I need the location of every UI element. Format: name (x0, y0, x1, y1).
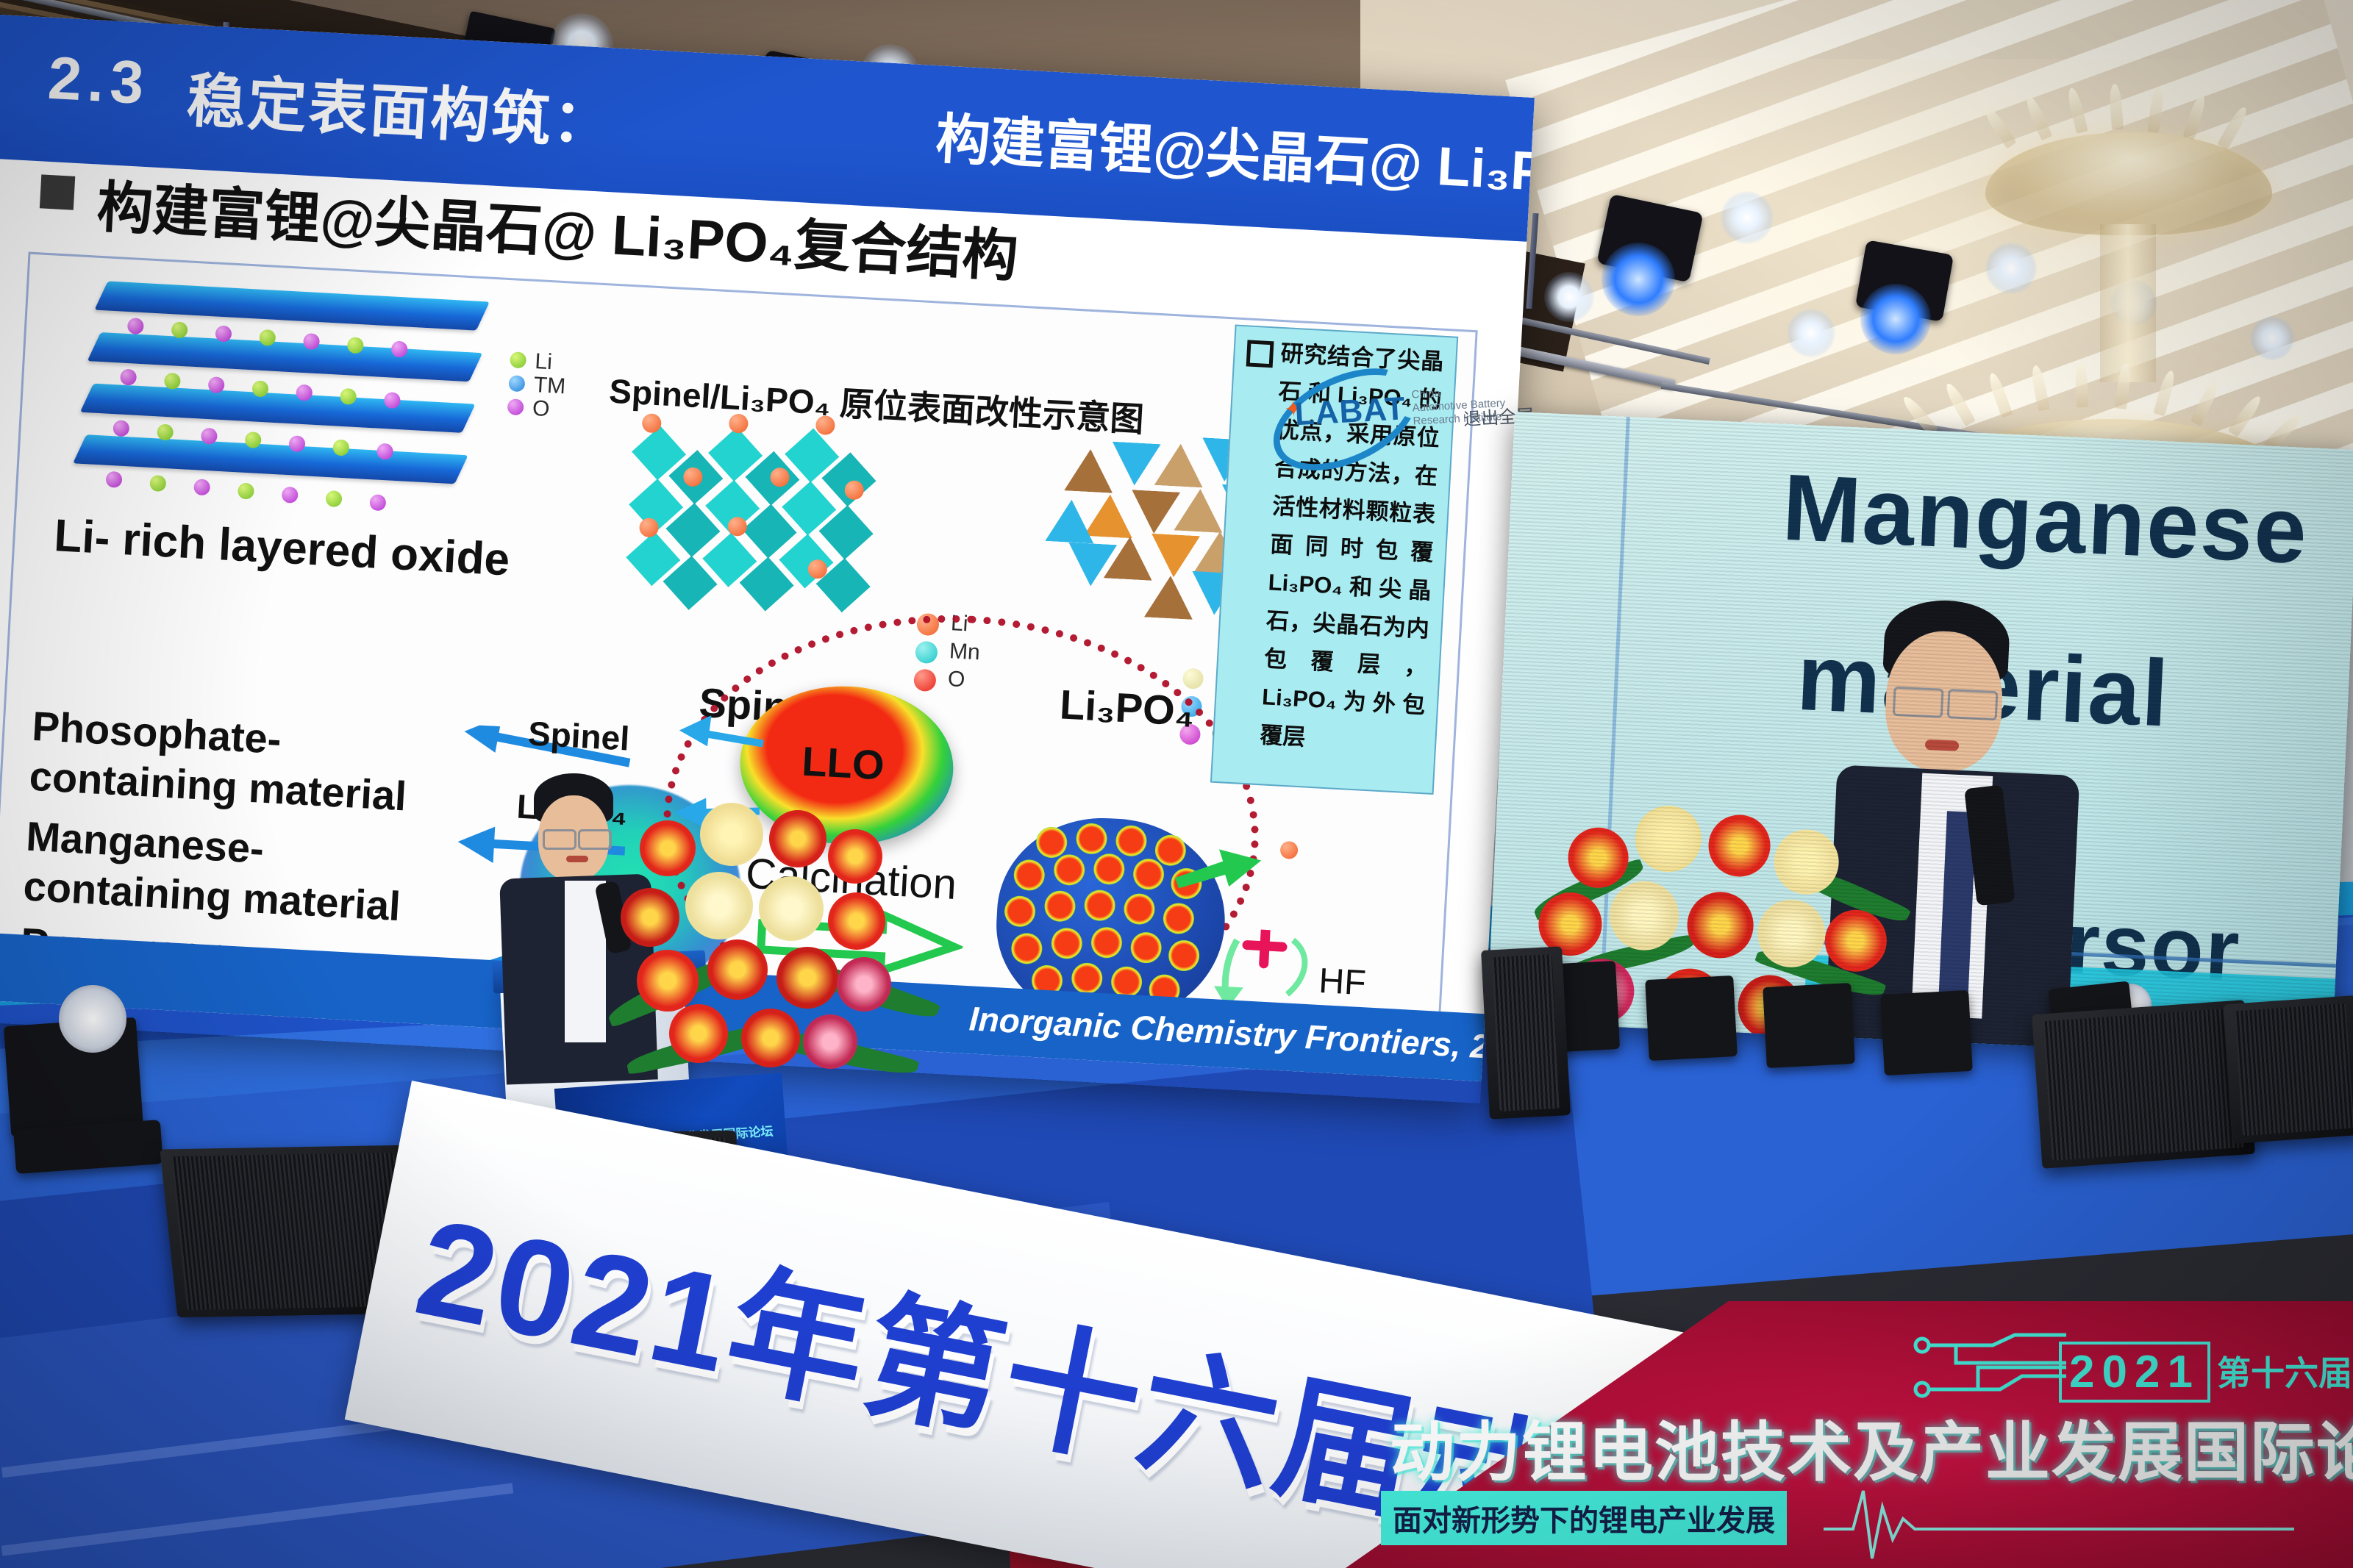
led-scanline-texture (1487, 412, 2353, 1059)
slide-section-number: 2.3 (46, 44, 151, 118)
moving-head-lens (59, 985, 126, 1053)
line-array-speaker (1481, 946, 1571, 1119)
logo-tagline: 面对新形势下的锂电产业发展 (1381, 1491, 1787, 1545)
label-spinel-pointer: Spinel (527, 713, 631, 758)
label-hf: HF (1318, 961, 1367, 1003)
eyeglasses-icon (543, 829, 576, 850)
eyeglasses-icon (578, 829, 612, 850)
conference-photo-scene: SHEN 4 2.3 稳定表面构筑： 构建富锂@尖晶石@ Li₃PO₄复合结构 … (0, 0, 2353, 1568)
logo-year: 2021 (2059, 1342, 2210, 1403)
legend-layered-li: Li (535, 349, 553, 375)
stage-monitor-speaker (2224, 995, 2353, 1144)
par-led-light (1787, 309, 1835, 357)
info-bullet-square-icon (1246, 340, 1274, 368)
conference-logo-overlay: 2021 第十六届 动力锂电池技术及产业发展国际论坛 面对新形势下的锂电产业发展 (1346, 1301, 2353, 1568)
led-wall-content: Manganese material sursor (1487, 412, 2353, 1059)
legend-layered-tm: TM (533, 373, 566, 399)
led-wall-screen: Manganese material sursor (1487, 412, 2353, 1059)
labat-wordmark: LABAT (1294, 390, 1407, 433)
li-escape-arrow-icon (1171, 837, 1277, 908)
par-led-light (1544, 272, 1594, 322)
stage-monitor-speaker (2032, 1000, 2255, 1169)
layered-oxide-structure (85, 278, 507, 520)
ecg-waveform-icon (1824, 1485, 2294, 1566)
blue-beam-glow (1602, 243, 1675, 316)
logo-edition: 第十六届 (2217, 1347, 2352, 1395)
floor-moving-head-light (1880, 990, 1973, 1075)
circuit-trace-icon (1912, 1331, 2081, 1411)
flower-arrangement-stage (618, 794, 904, 1103)
labat-logo: ✦ LABAT China Automotive Battery Researc… (1266, 367, 1440, 462)
logo-title: 动力锂电池技术及产业发展国际论坛 (1390, 1400, 2353, 1494)
floor-moving-head-light (1763, 983, 1855, 1068)
floor-moving-head-light (1645, 975, 1738, 1061)
bullet-square-icon (40, 174, 75, 210)
legend-layered-o: O (532, 396, 550, 422)
label-llo: LLO (801, 737, 885, 790)
par-led-light (1721, 191, 1774, 244)
